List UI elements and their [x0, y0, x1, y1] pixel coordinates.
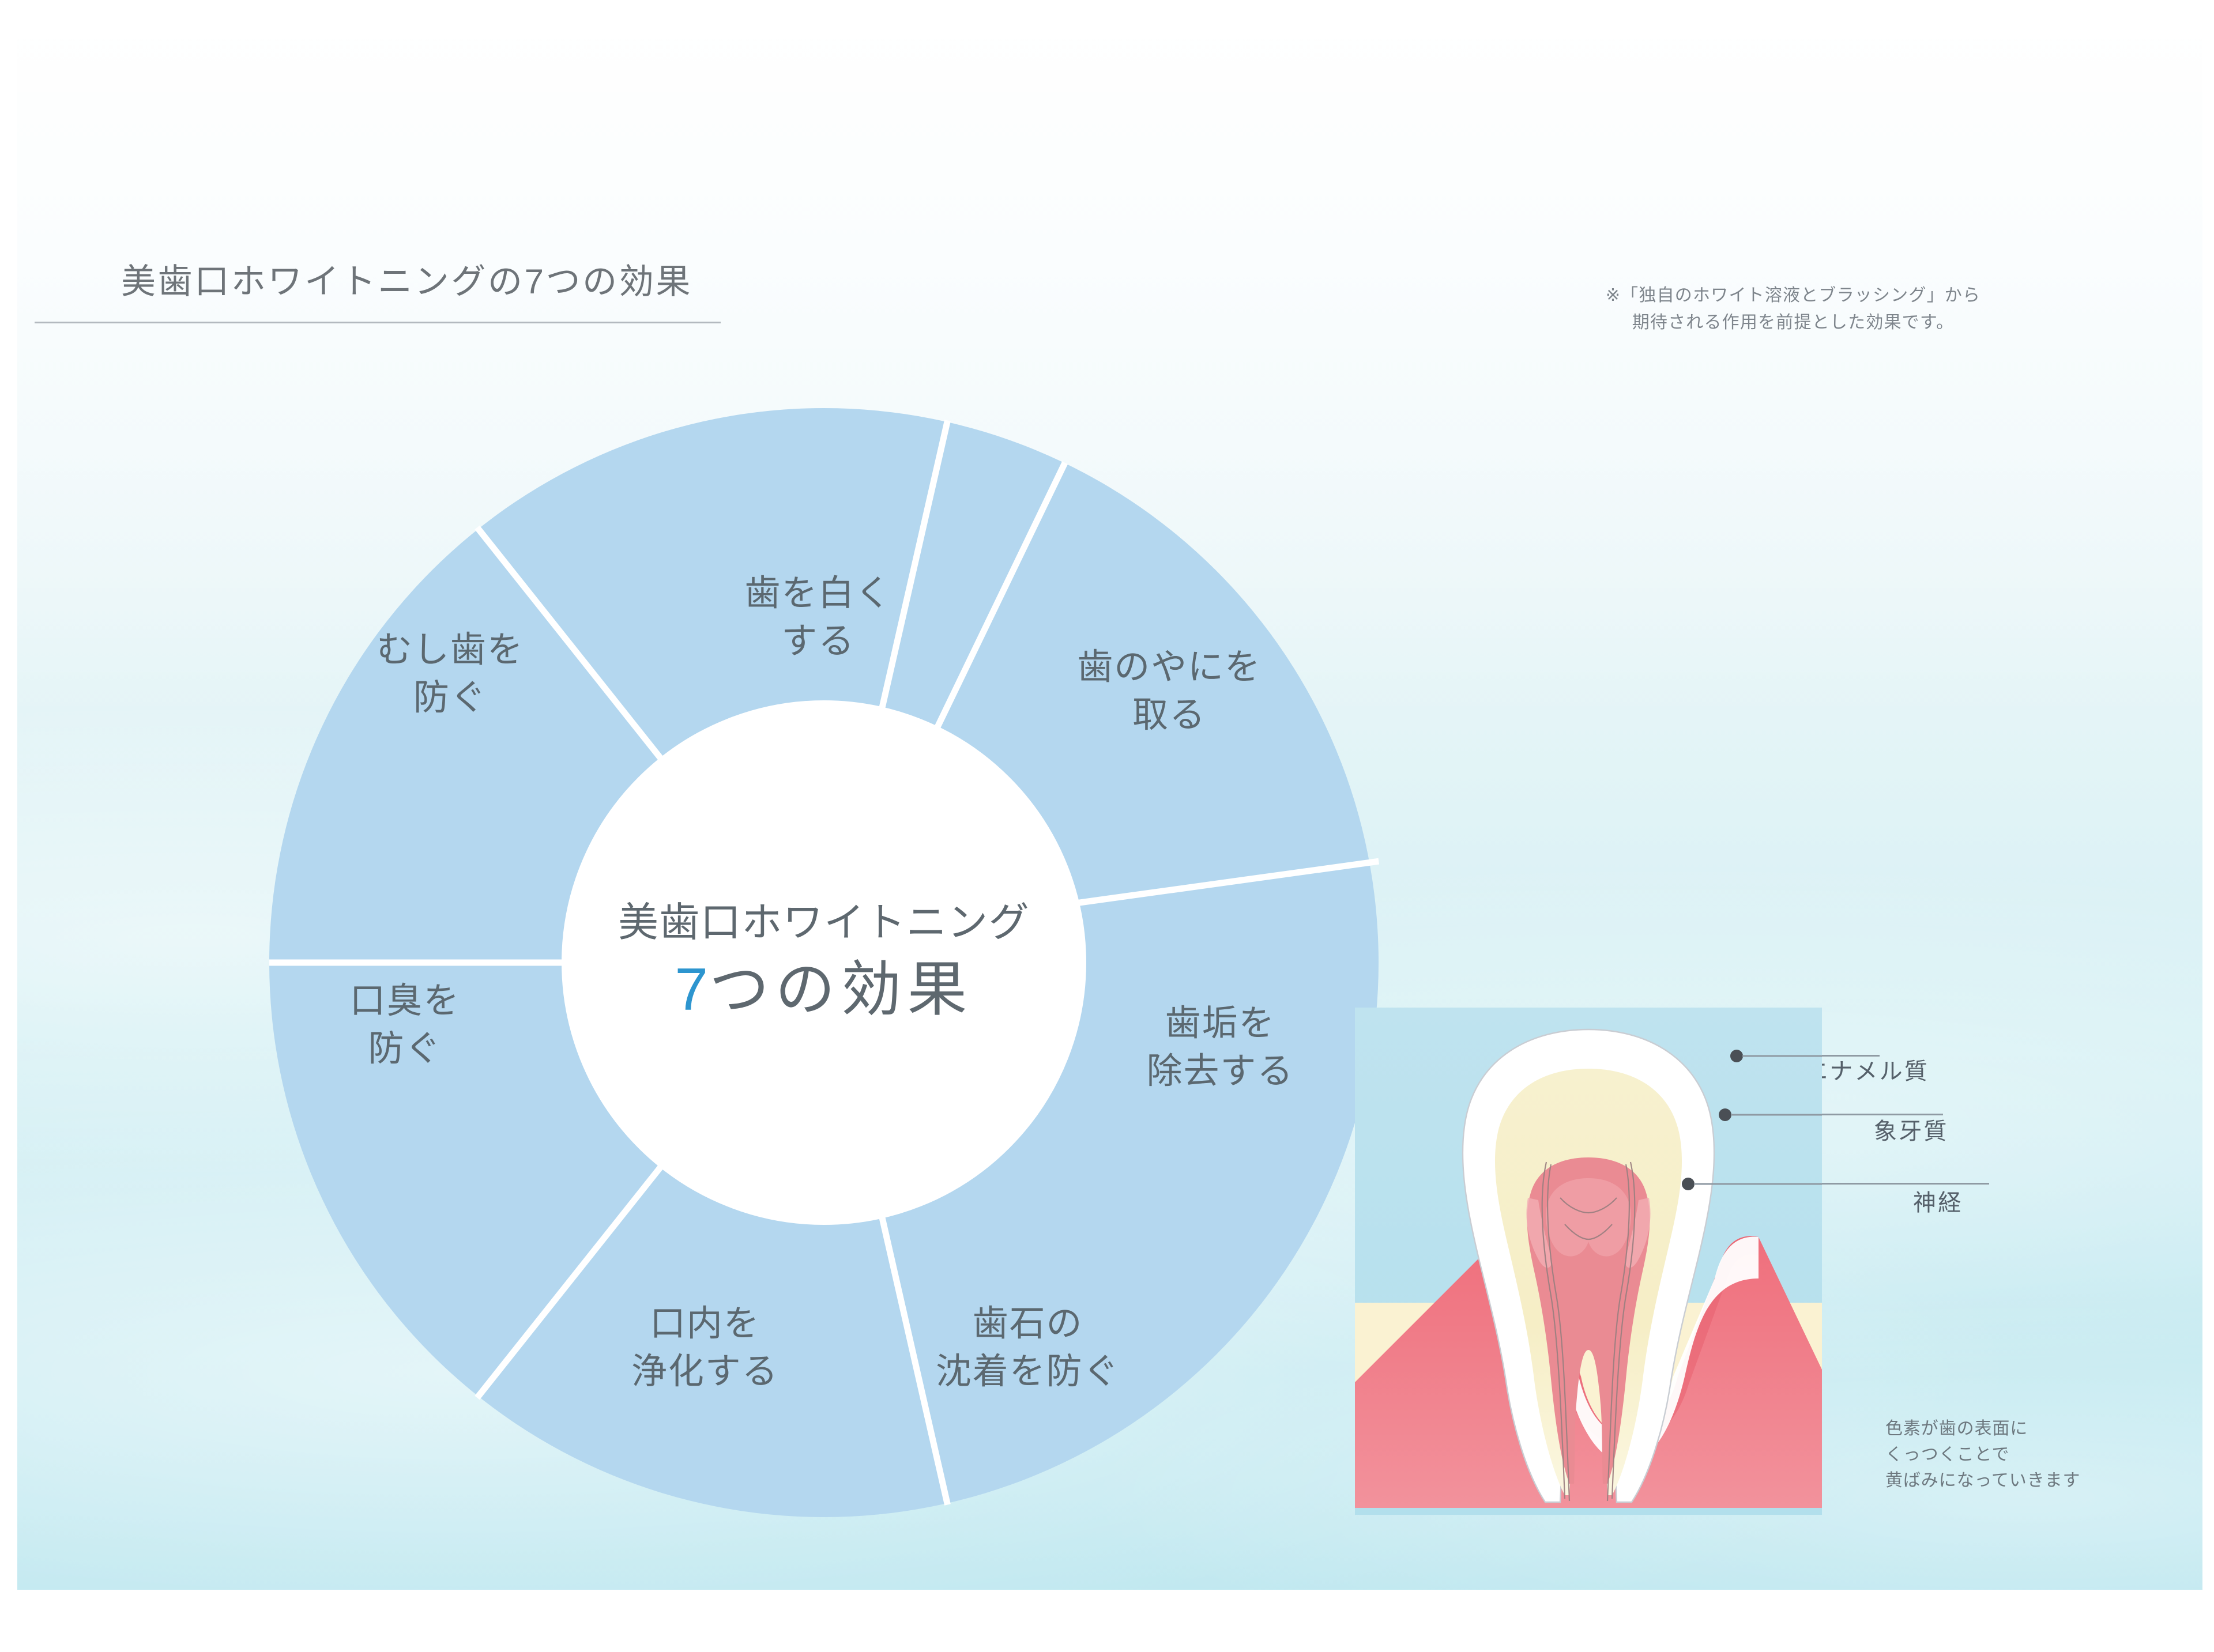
callout-label-enamel: エナメル質 [1805, 1053, 1929, 1086]
callout-label-dentin: 象牙質 [1874, 1112, 1949, 1146]
tooth-caption-line-3: 黄ばみになっていきます [1885, 1468, 2080, 1493]
page-title: 美歯口ホワイトニングの7つの効果 [121, 254, 692, 304]
tooth-diagram-svg [1355, 1008, 1822, 1515]
disclaimer-note: ※「独自のホワイト溶液とブラッシング」から 期待される作用を前提とした効果です。 [1539, 282, 2047, 336]
tooth-cross-section-figure [1355, 1008, 1822, 1515]
enamel-anchor-dot [1730, 1050, 1743, 1062]
title-underline [35, 322, 721, 323]
donut-center-number: 7 [675, 956, 709, 1023]
dentin-anchor-dot [1719, 1108, 1731, 1121]
tooth-caption-line-2: くっつくことで [1885, 1442, 2080, 1468]
donut-center-brand: 美歯口ホワイトニング [618, 898, 1030, 946]
slide-frame: 美歯口ホワイトニングの7つの効果 ※「独自のホワイト溶液とブラッシング」から 期… [0, 0, 2214, 1652]
tooth-caption: 色素が歯の表面に くっつくことで 黄ばみになっていきます [1885, 1416, 2080, 1493]
donut-center-suffix: つの効果 [709, 956, 973, 1023]
disclaimer-line-2: 期待される作用を前提とした効果です。 [1539, 310, 2047, 337]
donut-center-text: 美歯口ホワイトニング 7つの効果 [618, 898, 1030, 1027]
disclaimer-line-1: ※「独自のホワイト溶液とブラッシング」から [1539, 282, 2047, 310]
donut-center-count: 7つの効果 [618, 952, 1030, 1027]
tooth-caption-line-1: 色素が歯の表面に [1885, 1416, 2080, 1442]
slide-canvas: 美歯口ホワイトニングの7つの効果 ※「独自のホワイト溶液とブラッシング」から 期… [17, 39, 2202, 1590]
callout-label-nerve: 神経 [1913, 1184, 1963, 1217]
nerve-anchor-dot [1682, 1178, 1695, 1190]
leader-line-nerve [1822, 1183, 1989, 1185]
seven-effects-donut: 歯を白く する 歯のやにを 取る 歯垢を 除去する 歯石の 沈着を防ぐ 口内を … [258, 397, 1390, 1529]
leader-line-enamel [1822, 1055, 1880, 1057]
leader-line-dentin [1822, 1114, 1943, 1115]
tooth-artwork [1355, 1008, 1822, 1515]
